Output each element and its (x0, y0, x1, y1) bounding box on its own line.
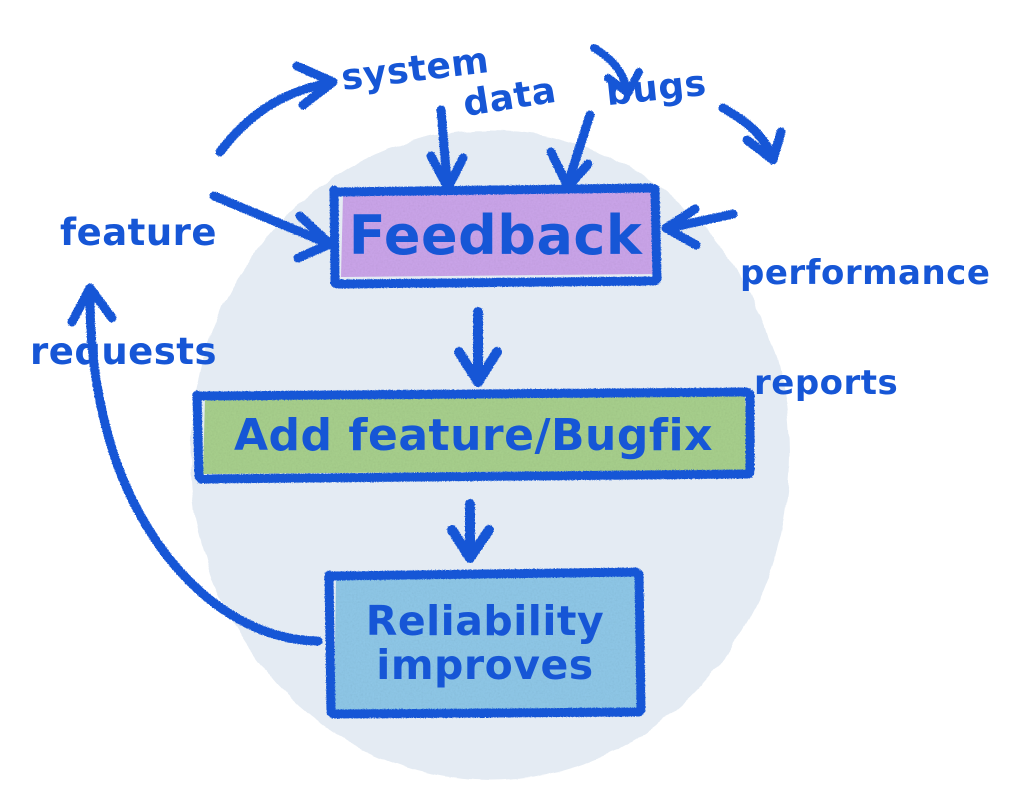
arrow-bugs-to-feedback (551, 115, 590, 187)
arrow-performance-reports-to-feedback (666, 209, 733, 245)
node-feedback[interactable]: Feedback (334, 188, 657, 284)
arrow-add-feature-to-reliability (452, 504, 489, 558)
node-feedback-label: Feedback (349, 207, 643, 265)
label-feature-requests-line1: feature (60, 214, 217, 251)
node-add-feature-bugfix[interactable]: Add feature/Bugfix (197, 392, 750, 479)
label-feature-requests-line2: requests (30, 333, 217, 370)
node-reliability-improves[interactable]: Reliability improves (329, 572, 641, 714)
node-reliability-improves-label: Reliability improves (366, 599, 605, 688)
label-performance-reports-line2: reports (754, 366, 990, 400)
arrow-feature-requests-to-feedback (214, 196, 330, 258)
label-bugs: bugs (604, 66, 708, 112)
label-performance-reports: performance reports (740, 188, 990, 468)
arrow-bugs-hook (723, 108, 781, 160)
label-feature-requests: feature requests (30, 140, 217, 444)
diagram-canvas: Feedback Add feature/Bugfix Reliability … (0, 0, 1034, 811)
arrow-feature-to-system-curve (220, 66, 333, 152)
arrow-feedback-to-add-feature (459, 312, 497, 382)
node-add-feature-bugfix-label: Add feature/Bugfix (234, 412, 713, 460)
label-performance-reports-line1: performance (740, 256, 990, 290)
arrow-system-data-to-feedback (431, 110, 463, 188)
